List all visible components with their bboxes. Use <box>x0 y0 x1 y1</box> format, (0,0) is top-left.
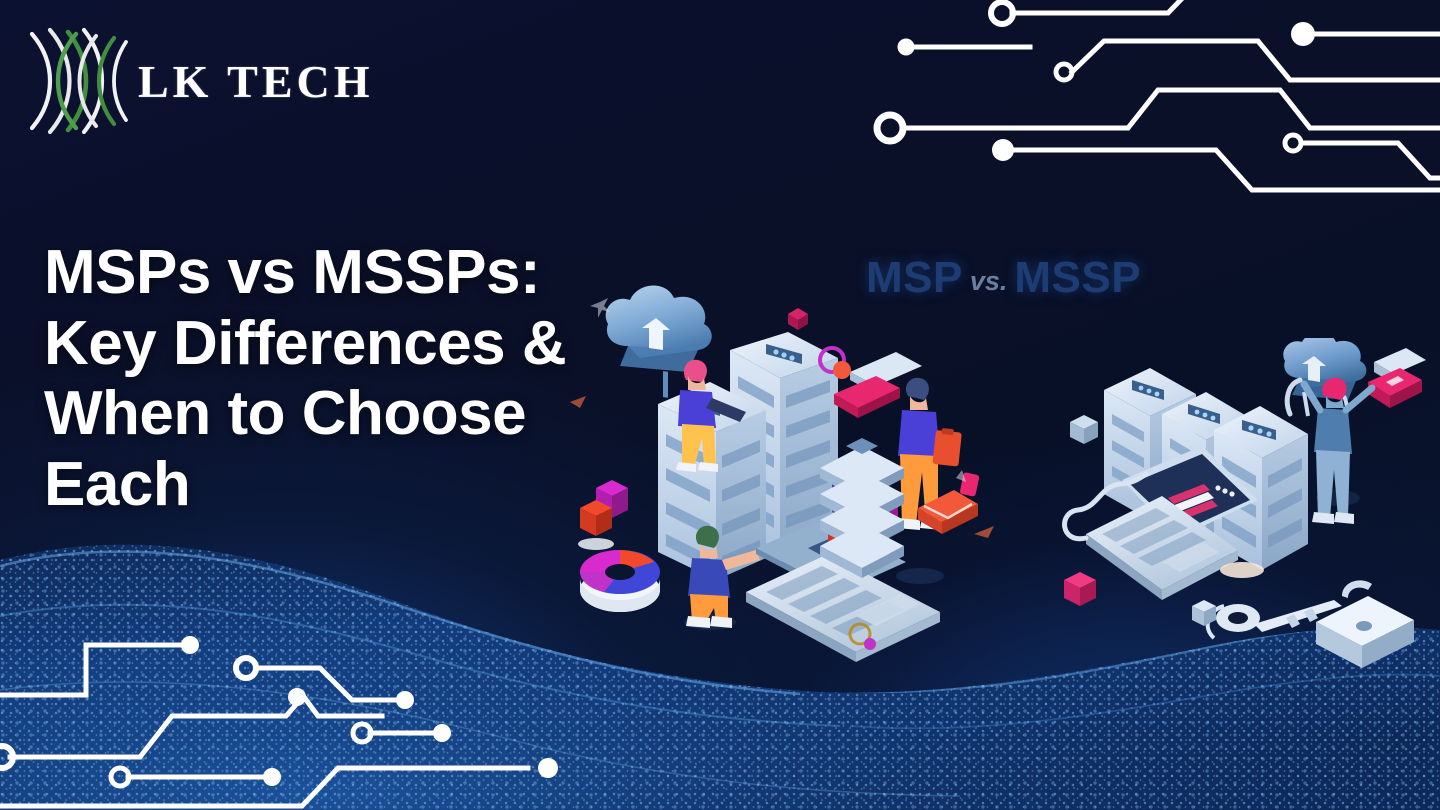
brand-logo[interactable]: LK TECH <box>22 22 374 140</box>
donut-chart <box>580 550 660 612</box>
circuit-trace-group-bottom-left <box>0 636 558 806</box>
comparison-label-right: MSSP <box>1014 253 1141 302</box>
page-title: MSPs vs MSSPs: Key Differences & When to… <box>44 238 604 521</box>
shield-lock-badge <box>1368 348 1426 408</box>
comparison-label-middle: vs. <box>963 266 1015 296</box>
lk-tech-arc-waves-icon <box>22 22 134 140</box>
padlock-icon <box>1316 580 1414 668</box>
hero-banner: LK TECH MSPs vs MSSPs: Key Differences &… <box>0 0 1440 810</box>
mssp-isometric-scene <box>1042 338 1440 668</box>
msp-isometric-scene <box>570 272 1000 672</box>
page-title-text: MSPs vs MSSPs: Key Differences & When to… <box>44 238 604 521</box>
comparison-label: MSPvs.MSSP <box>866 256 1141 300</box>
brand-wordmark: LK TECH <box>138 59 374 105</box>
circuit-trace-group-top-right <box>877 0 1440 222</box>
comparison-label-left: MSP <box>866 253 963 302</box>
standing-technician-briefcase <box>896 378 962 584</box>
